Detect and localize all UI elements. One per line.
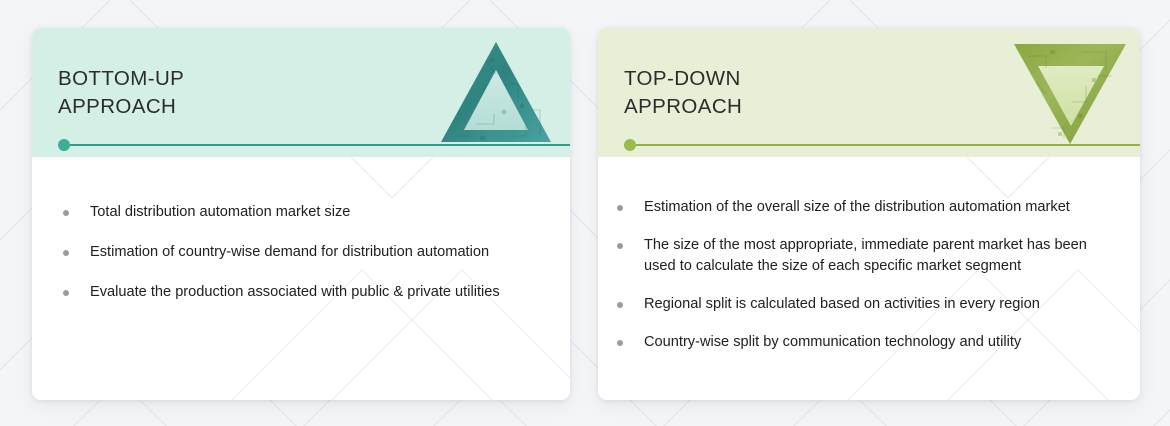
list-item: The size of the most appropriate, immedi… <box>614 235 1110 277</box>
triangle-down-icon <box>1012 42 1128 146</box>
list-item: Total distribution automation market siz… <box>60 202 546 223</box>
list-item: Estimation of the overall size of the di… <box>614 197 1110 218</box>
list-item-text: Evaluate the production associated with … <box>90 284 500 300</box>
list-item-text: Estimation of country-wise demand for di… <box>90 244 489 260</box>
bullet-dot-icon <box>63 290 69 296</box>
card-header-bottom-up: BOTTOM-UP APPROACH <box>32 28 570 157</box>
list-item-text: Total distribution automation market siz… <box>90 204 350 220</box>
list-item-text: Regional split is calculated based on ac… <box>644 296 1040 312</box>
card-inner: TOP-DOWN APPROACH <box>598 28 1140 400</box>
list-item: Country-wise split by communication tech… <box>614 332 1110 353</box>
bullet-list-top-down: Estimation of the overall size of the di… <box>598 157 1140 353</box>
list-item: Regional split is calculated based on ac… <box>614 294 1110 315</box>
bullet-dot-icon <box>63 250 69 256</box>
triangle-up-icon <box>440 40 552 144</box>
card-bottom-up-approach[interactable]: BOTTOM-UP APPROACH <box>32 28 570 400</box>
connector-bottom-up <box>58 138 570 152</box>
card-title-bottom-up: BOTTOM-UP APPROACH <box>58 65 184 121</box>
card-title-top-down: TOP-DOWN APPROACH <box>624 65 742 121</box>
list-item: Evaluate the production associated with … <box>60 282 546 303</box>
bullet-dot-icon <box>617 205 623 211</box>
connector-dot <box>58 139 70 151</box>
cards-container: BOTTOM-UP APPROACH <box>0 0 1170 426</box>
list-item-text: The size of the most appropriate, immedi… <box>644 237 1087 274</box>
connector-dot <box>624 139 636 151</box>
connector-line <box>631 144 1140 146</box>
list-item: Estimation of country-wise demand for di… <box>60 242 546 263</box>
bullet-dot-icon <box>617 243 623 249</box>
connector-line <box>65 144 570 146</box>
bullet-list-bottom-up: Total distribution automation market siz… <box>32 157 570 303</box>
card-top-down-approach[interactable]: TOP-DOWN APPROACH <box>598 28 1140 400</box>
list-item-text: Country-wise split by communication tech… <box>644 334 1021 350</box>
list-item-text: Estimation of the overall size of the di… <box>644 199 1070 215</box>
connector-top-down <box>624 138 1140 152</box>
card-header-top-down: TOP-DOWN APPROACH <box>598 28 1140 157</box>
bullet-dot-icon <box>63 210 69 216</box>
card-inner: BOTTOM-UP APPROACH <box>32 28 570 400</box>
bullet-dot-icon <box>617 302 623 308</box>
bullet-dot-icon <box>617 340 623 346</box>
